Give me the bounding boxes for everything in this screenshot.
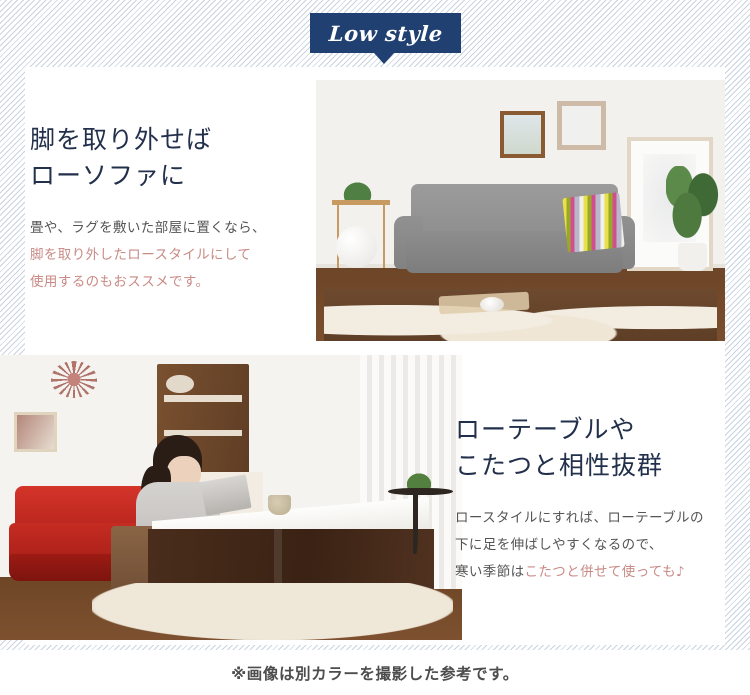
striped-cushion bbox=[563, 192, 626, 252]
section-low-sofa-heading-line2: ローソファに bbox=[30, 158, 320, 194]
striped-background: Low style 脚を取り外せば ローソファに 畳や、ラグを敷いた部屋に置くな… bbox=[0, 0, 750, 650]
section-low-sofa-heading-line1: 脚を取り外せば bbox=[30, 122, 320, 158]
section-kotatsu-text: ローテーブルや こたつと相性抜群 ロースタイルにすれば、ローテーブルの 下に足を… bbox=[455, 412, 720, 586]
photo-kotatsu-room bbox=[0, 355, 462, 640]
potted-plant bbox=[664, 166, 721, 270]
ribbon-box: Low style bbox=[310, 13, 461, 53]
section-low-sofa-body-line3: 使用するのもおススメです。 bbox=[30, 269, 320, 296]
section-kotatsu-heading-line2: こたつと相性抜群 bbox=[455, 448, 720, 484]
section-low-sofa-body-line2: 脚を取り外したロースタイルにして bbox=[30, 242, 320, 269]
wall-picture-frame-collage bbox=[557, 101, 606, 150]
section-kotatsu-body-line3: 寒い季節はこたつと併せて使っても♪ bbox=[455, 559, 720, 586]
wall-picture-frame-small bbox=[500, 111, 545, 158]
section-low-sofa-body: 畳や、ラグを敷いた部屋に置くなら、 脚を取り外したロースタイルにして 使用するの… bbox=[30, 215, 320, 296]
wall-picture-frame bbox=[14, 412, 57, 452]
section-kotatsu-body: ロースタイルにすれば、ローテーブルの 下に足を伸ばしやすくなるので、 寒い季節は… bbox=[455, 505, 720, 586]
round-lamp bbox=[336, 226, 377, 268]
footer-note-bar: ※画像は別カラーを撮影した参考です。 bbox=[0, 650, 750, 695]
section-kotatsu-heading-line1: ローテーブルや bbox=[455, 412, 720, 448]
photo-low-sofa-living-room bbox=[316, 80, 725, 341]
ribbon-label: Low style bbox=[328, 21, 443, 46]
tea-cup bbox=[268, 495, 291, 515]
section-kotatsu-body-line3-gray: 寒い季節は bbox=[455, 564, 525, 580]
section-kotatsu-body-line1: ロースタイルにすれば、ローテーブルの bbox=[455, 505, 720, 532]
ribbon-tail-triangle bbox=[374, 53, 394, 64]
content-panel: 脚を取り外せば ローソファに 畳や、ラグを敷いた部屋に置くなら、 脚を取り外した… bbox=[25, 67, 725, 645]
wall-clock bbox=[51, 361, 97, 398]
section-low-sofa-body-line1: 畳や、ラグを敷いた部屋に置くなら、 bbox=[30, 215, 320, 242]
footer-note: ※画像は別カラーを撮影した参考です。 bbox=[231, 662, 519, 684]
round-rug bbox=[92, 583, 452, 640]
low-style-ribbon: Low style bbox=[310, 13, 461, 63]
section-low-sofa-text: 脚を取り外せば ローソファに 畳や、ラグを敷いた部屋に置くなら、 脚を取り外した… bbox=[30, 122, 320, 296]
side-table-with-plant bbox=[388, 469, 453, 555]
section-kotatsu-body-line2: 下に足を伸ばしやすくなるので、 bbox=[455, 532, 720, 559]
section-kotatsu-body-line3-pink: こたつと併せて使っても♪ bbox=[525, 564, 686, 580]
